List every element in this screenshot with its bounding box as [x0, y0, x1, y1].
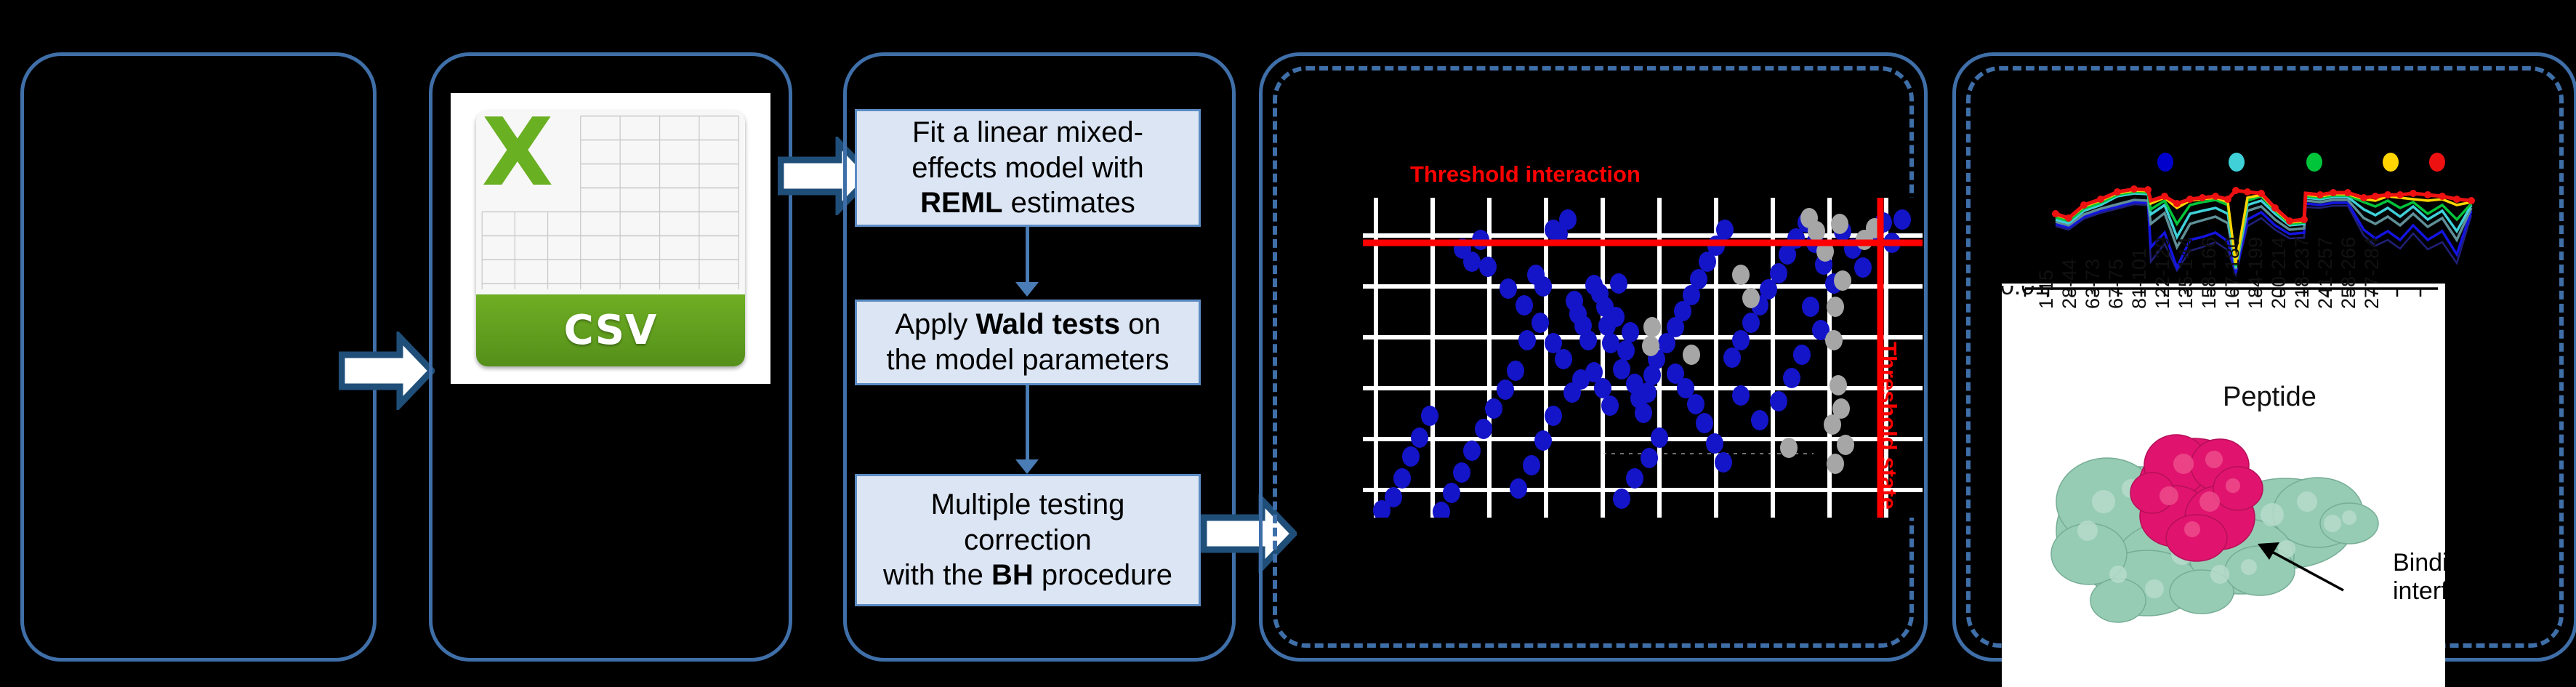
- step-box-wald-text: Apply Wald tests onthe model parameters: [886, 307, 1169, 378]
- step-box-reml[interactable]: Fit a linear mixed-effects model withREM…: [855, 109, 1201, 227]
- volcano-plot: [1363, 198, 1923, 518]
- step-box-wald[interactable]: Apply Wald tests onthe model parameters: [855, 300, 1201, 385]
- connector-wald-bh: [1026, 385, 1029, 464]
- csv-card: X CSV: [451, 93, 770, 384]
- csv-band: CSV: [476, 294, 745, 366]
- volcano-threshold-state-label: Threshold state: [1875, 342, 1901, 510]
- binding-interface-line1: Binding: [2393, 549, 2487, 577]
- panel-input: [20, 52, 377, 662]
- axis-and-structure-svg: [2002, 284, 2445, 687]
- binding-interface-line2: interface: [2393, 577, 2487, 606]
- peptide-axis-title: Peptide: [2223, 382, 2317, 413]
- excel-x-glyph: X: [482, 113, 584, 221]
- binding-interface-callout: Binding interface: [2393, 549, 2487, 606]
- arrow-into-input: [339, 332, 435, 410]
- volcano-threshold-interaction-label: Threshold interaction: [1410, 161, 1641, 188]
- volcano-svg: [1363, 198, 1923, 518]
- connector-reml-wald: [1026, 227, 1029, 286]
- diagram-stage: X CSV Fit a linear mixed-effects model w…: [0, 0, 2576, 687]
- step-box-bh-text: Multiple testingcorrectionwith the BH pr…: [883, 487, 1172, 593]
- csv-file-icon: X CSV: [476, 111, 745, 366]
- step-box-reml-text: Fit a linear mixed-effects model withREM…: [911, 115, 1143, 221]
- peptide-axis-and-structure: [2002, 284, 2445, 687]
- step-box-bh[interactable]: Multiple testingcorrectionwith the BH pr…: [855, 474, 1201, 606]
- csv-band-label: CSV: [564, 307, 658, 354]
- connector-arrowhead-bh: [1015, 459, 1039, 474]
- connector-arrowhead-wald: [1015, 282, 1039, 297]
